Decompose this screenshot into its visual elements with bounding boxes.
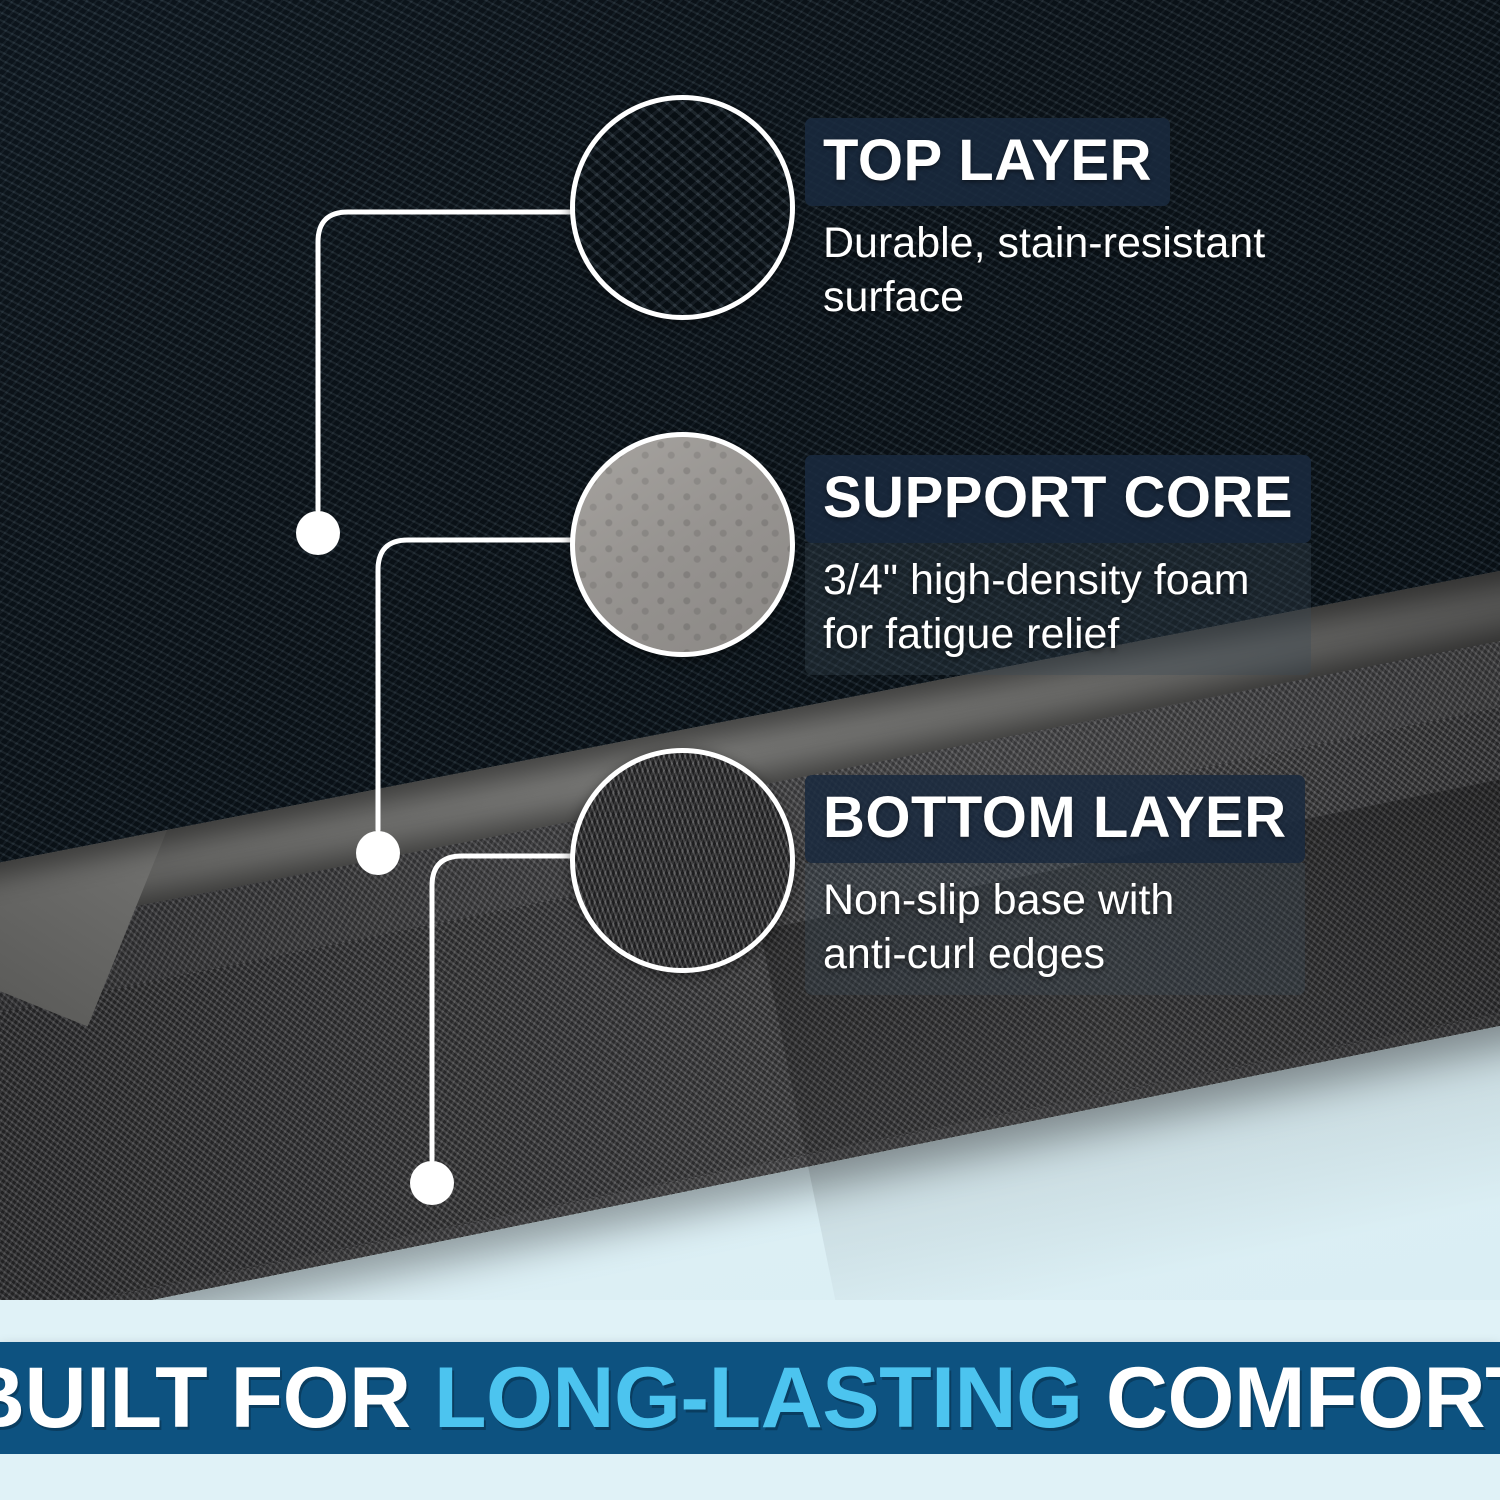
callout-top-layer: TOP LAYER Durable, stain-resistant surfa…: [805, 118, 1283, 338]
banner-top-margin: [0, 1300, 1500, 1342]
callout-bottom-layer: BOTTOM LAYER Non-slip base with anti-cur…: [805, 775, 1305, 995]
callout-description-bottom-layer: Non-slip base with anti-curl edges: [805, 863, 1305, 995]
callout-title-bottom-layer: BOTTOM LAYER: [805, 775, 1305, 863]
connector-dot-bottom-layer: [410, 1161, 454, 1205]
callout-title-support-core: SUPPORT CORE: [805, 455, 1311, 543]
bottom-banner: BUILT FOR LONG-LASTING COMFORT: [0, 1342, 1500, 1454]
callout-description-support-core: 3/4" high-density foam for fatigue relie…: [805, 543, 1311, 675]
banner-text-highlight: LONG-LASTING: [434, 1350, 1083, 1446]
connector-line-top-layer: [318, 212, 570, 510]
support-core-texture-swatch: [570, 432, 795, 657]
callout-description-line: 3/4" high-density foam: [823, 556, 1249, 604]
callout-description-line: Durable, stain-resistant: [823, 219, 1265, 267]
banner-text-trail: COMFORT: [1083, 1350, 1500, 1446]
callout-description-line: surface: [823, 273, 964, 321]
banner-headline: BUILT FOR LONG-LASTING COMFORT: [0, 1355, 1500, 1441]
top-layer-texture-swatch: [570, 95, 795, 320]
callout-description-top-layer: Durable, stain-resistant surface: [805, 206, 1283, 338]
callout-description-line: Non-slip base with: [823, 876, 1174, 924]
connector-dot-top-layer: [296, 511, 340, 555]
callout-description-line: anti-curl edges: [823, 930, 1105, 978]
callout-support-core: SUPPORT CORE 3/4" high-density foam for …: [805, 455, 1311, 675]
banner-bottom-margin: [0, 1454, 1500, 1500]
product-infographic: TOP LAYER Durable, stain-resistant surfa…: [0, 0, 1500, 1500]
connector-line-bottom-layer: [432, 856, 570, 1160]
connector-dot-support-core: [356, 831, 400, 875]
connector-line-support-core: [378, 540, 570, 830]
banner-text-lead: BUILT FOR: [0, 1350, 434, 1446]
callout-title-top-layer: TOP LAYER: [805, 118, 1170, 206]
bottom-layer-texture-swatch: [570, 748, 795, 973]
callout-description-line: for fatigue relief: [823, 610, 1119, 658]
